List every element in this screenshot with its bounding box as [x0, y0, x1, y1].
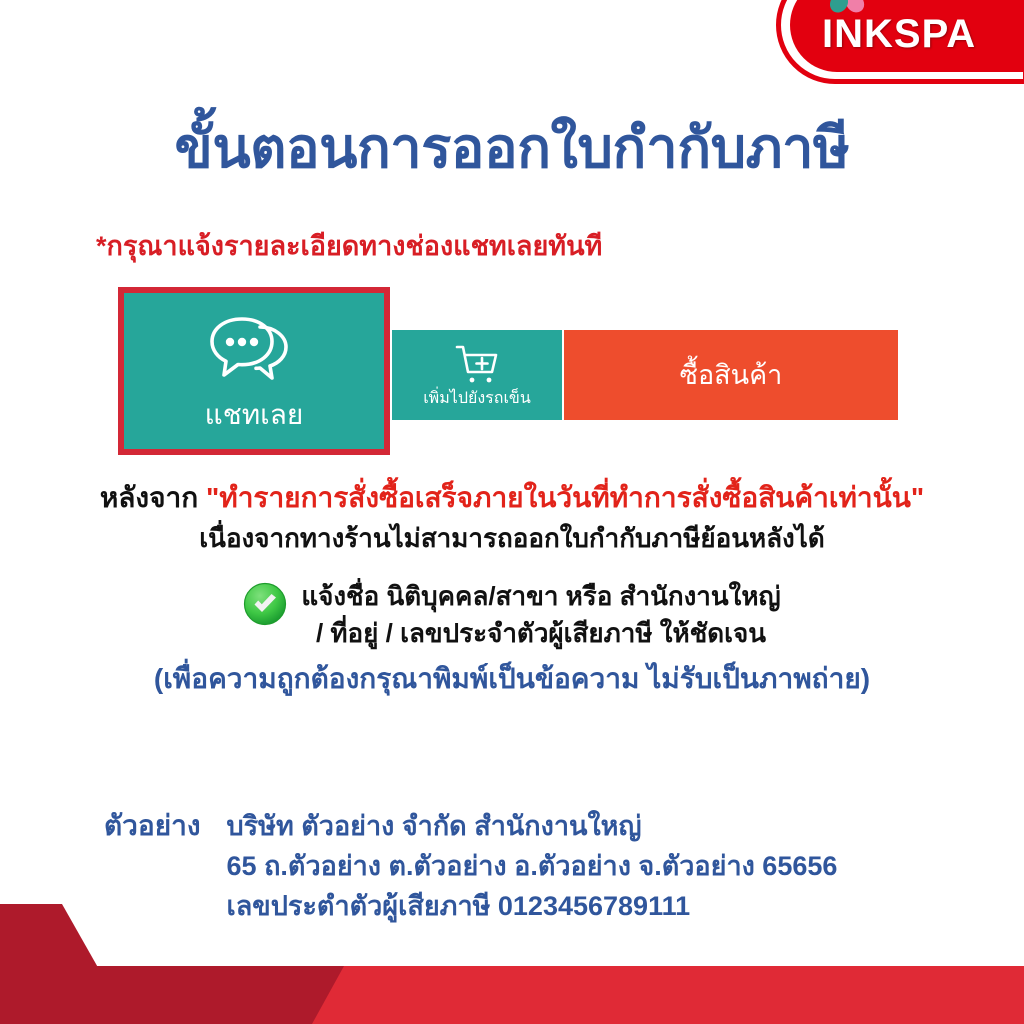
requirements-row: แจ้งชื่อ นิติบุคคล/สาขา หรือ สำนักงานใหญ… [0, 578, 1024, 652]
example-line-1: บริษัท ตัวอย่าง จำกัด สำนักงานใหญ่ [227, 806, 838, 846]
timing-note-line1: หลังจาก "ทำรายการสั่งซื้อเสร็จภายในวันที… [0, 478, 1024, 518]
green-check-icon [243, 582, 287, 626]
example-block: ตัวอย่าง บริษัท ตัวอย่าง จำกัด สำนักงานใ… [104, 806, 837, 926]
add-to-cart-button[interactable]: เพิ่มไปยังรถเข็น [392, 330, 562, 420]
decor-dark-band [0, 966, 1024, 1024]
page-title: ขั้นตอนการออกใบกำกับภาษี [0, 110, 1024, 186]
requirements-block: แจ้งชื่อ นิติบุคคล/สาขา หรือ สำนักงานใหญ… [0, 578, 1024, 698]
chat-bubbles-icon [208, 311, 300, 383]
requirement-line-1: แจ้งชื่อ นิติบุคคล/สาขา หรือ สำนักงานใหญ… [301, 578, 780, 615]
example-line-3: เลขประตำตัวผู้เสียภาษี 0123456789111 [227, 886, 838, 926]
buy-now-label: ซื้อสินค้า [680, 358, 783, 392]
add-to-cart-label: เพิ่มไปยังรถเข็น [423, 389, 531, 409]
decor-bright-band [312, 966, 1024, 1024]
timing-note-prefix: หลังจาก [100, 482, 206, 513]
cart-plus-icon [451, 342, 503, 388]
promo-poster: INKSPA ขั้นตอนการออกใบกำกับภาษี *กรุณาแจ… [0, 0, 1024, 1024]
example-lines: บริษัท ตัวอย่าง จำกัด สำนักงานใหญ่ 65 ถ.… [227, 806, 838, 926]
timing-note-highlight: "ทำรายการสั่งซื้อเสร็จภายในวันที่ทำการสั… [206, 482, 924, 513]
chat-now-button[interactable]: แชทเลย [118, 287, 390, 455]
example-label: ตัวอย่าง [104, 806, 201, 846]
requirements-blue-note: (เพื่อความถูกต้องกรุณาพิมพ์เป็นข้อความ ไ… [0, 660, 1024, 698]
requirements-texts: แจ้งชื่อ นิติบุคคล/สาขา หรือ สำนักงานใหญ… [301, 578, 780, 652]
logo-wordmark: INKSPA [822, 14, 1024, 54]
timing-note-line2: เนื่องจากทางร้านไม่สามารถออกใบกำกับภาษีย… [0, 518, 1024, 558]
example-line-2: 65 ถ.ตัวอย่าง ต.ตัวอย่าง อ.ตัวอย่าง จ.ตั… [227, 846, 838, 886]
shop-action-bar-mock: เพิ่มไปยังรถเข็น ซื้อสินค้า แชทเลย [118, 287, 898, 459]
buy-now-button[interactable]: ซื้อสินค้า [564, 330, 898, 420]
brand-logo: INKSPA [776, 0, 1024, 88]
page-subtitle: *กรุณาแจ้งรายละเอียดทางช่องแชทเลยทันที [96, 228, 602, 264]
chat-now-label: แชทเลย [205, 399, 304, 431]
requirement-line-2: / ที่อยู่ / เลขประจำตัวผู้เสียภาษี ให้ชั… [301, 615, 780, 652]
timing-note: หลังจาก "ทำรายการสั่งซื้อเสร็จภายในวันที… [0, 478, 1024, 558]
